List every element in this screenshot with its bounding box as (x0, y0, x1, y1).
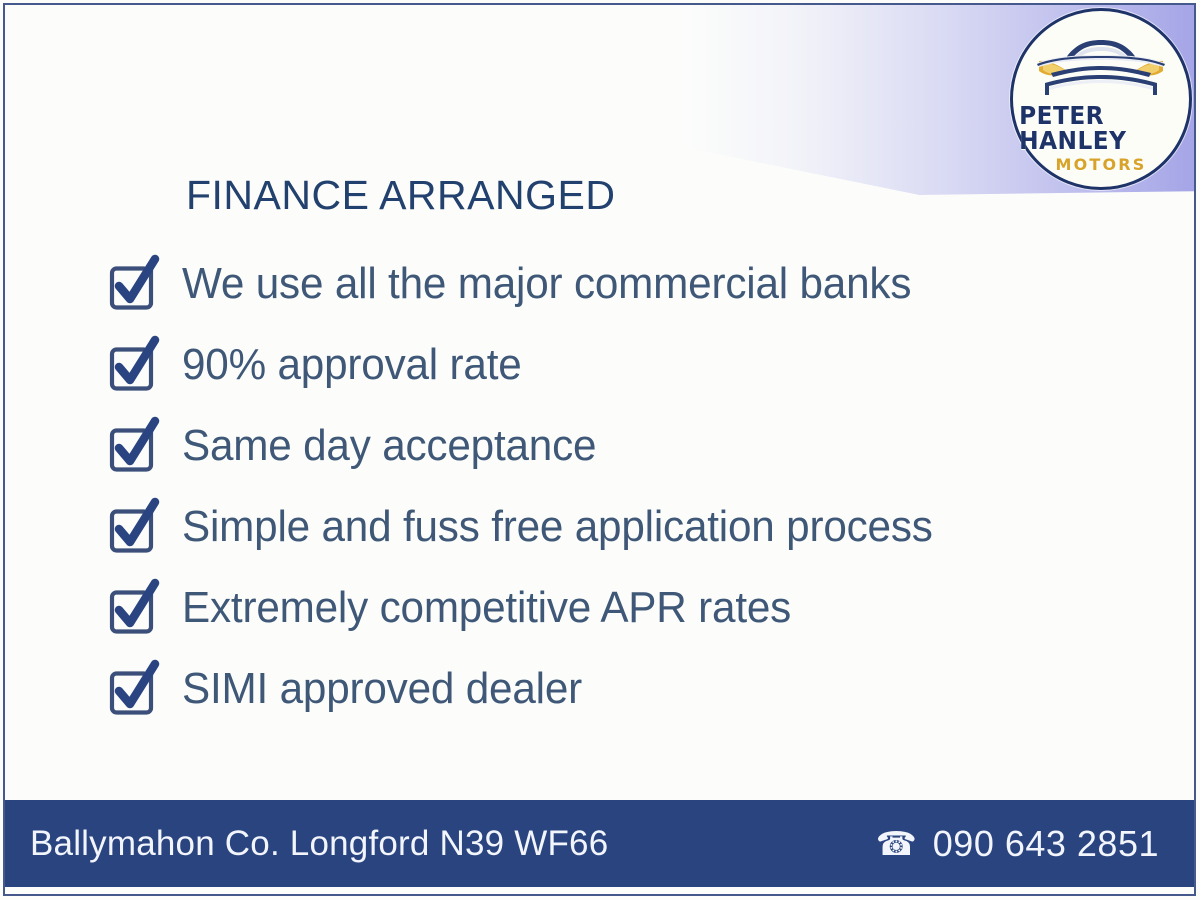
feature-list: We use all the major commercial banks 90… (104, 243, 1104, 729)
list-item: Extremely competitive APR rates (104, 567, 1104, 648)
list-item-label: Same day acceptance (182, 421, 596, 471)
list-item: We use all the major commercial banks (104, 243, 1104, 324)
dealer-logo[interactable]: PETER HANLEY MOTORS (1010, 8, 1192, 190)
checkbox-checked-icon (104, 253, 166, 315)
list-item-label: Extremely competitive APR rates (182, 583, 791, 633)
phone-number[interactable]: 090 643 2851 (933, 823, 1159, 865)
list-item: 90% approval rate (104, 324, 1104, 405)
list-item: Simple and fuss free application process (104, 486, 1104, 567)
dealer-address: Ballymahon Co. Longford N39 WF66 (30, 824, 608, 864)
list-item-label: We use all the major commercial banks (182, 259, 911, 309)
checkbox-checked-icon (104, 415, 166, 477)
page-title: FINANCE ARRANGED (186, 172, 615, 219)
list-item: Same day acceptance (104, 405, 1104, 486)
list-item-label: SIMI approved dealer (182, 664, 582, 714)
checkbox-checked-icon (104, 334, 166, 396)
list-item-label: Simple and fuss free application process (182, 502, 933, 552)
checkbox-checked-icon (104, 577, 166, 639)
checkbox-checked-icon (104, 658, 166, 720)
list-item-label: 90% approval rate (182, 340, 522, 390)
footer-bar: Ballymahon Co. Longford N39 WF66 ☎ 090 6… (5, 800, 1195, 887)
promo-card: PETER HANLEY MOTORS FINANCE ARRANGED We … (0, 0, 1200, 900)
logo-brand-sub: MOTORS (1055, 157, 1146, 173)
telephone-icon: ☎ (876, 827, 917, 860)
car-front-icon (1031, 33, 1171, 101)
logo-brand-name: PETER HANLEY (1019, 103, 1183, 153)
list-item: SIMI approved dealer (104, 648, 1104, 729)
checkbox-checked-icon (104, 496, 166, 558)
phone-block[interactable]: ☎ 090 643 2851 (876, 823, 1159, 865)
